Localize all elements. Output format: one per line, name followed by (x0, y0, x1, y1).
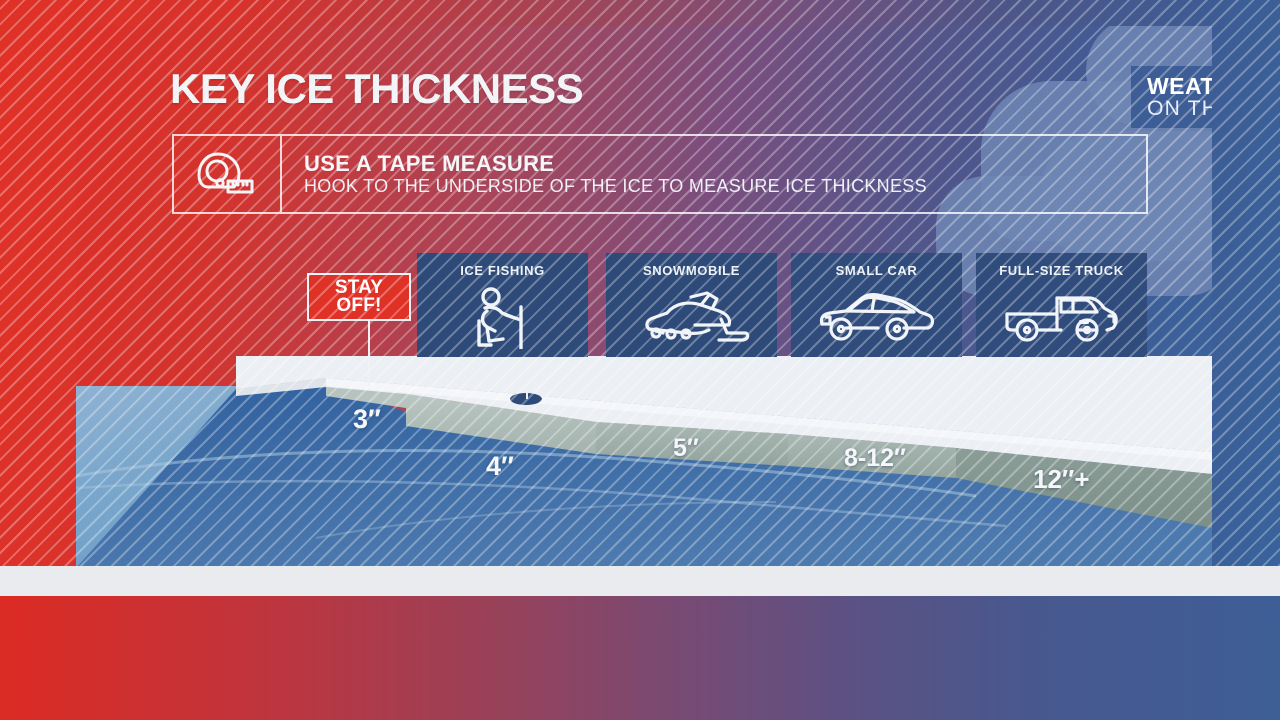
activity-card-ice-fishing[interactable]: ICE FISHING (417, 253, 588, 357)
logo-line-2: ON THE 1s (1147, 98, 1212, 120)
activity-cards: ICE FISHING (417, 253, 1144, 357)
page-title: KEY ICE THICKNESS (170, 68, 583, 110)
white-divider-strip (0, 566, 1280, 596)
thickness-label-12: 12″+ (1033, 464, 1090, 495)
thickness-label-4: 4″ (486, 451, 514, 482)
activity-card-snowmobile[interactable]: SNOWMOBILE (606, 253, 777, 357)
banner-subtitle: HOOK TO THE UNDERSIDE OF THE ICE TO MEAS… (304, 176, 1146, 198)
ice-fisherman-icon (417, 278, 588, 357)
thickness-label-5: 5″ (673, 434, 699, 463)
tape-measure-banner: USE A TAPE MEASURE HOOK TO THE UNDERSIDE… (172, 134, 1148, 214)
bottom-gradient-bar (0, 596, 1280, 720)
thickness-label-8-12: 8-12″ (844, 444, 906, 473)
content-panel: 3″ 4″ 5″ 8-12″ 12″+ KEY ICE THICKNESS WE… (76, 26, 1212, 566)
weather-on-the-1s-logo: WEATHER ON THE 1s (1131, 66, 1212, 128)
activity-card-small-car[interactable]: SMALL CAR (791, 253, 962, 357)
stay-off-sign: STAY OFF! (307, 273, 411, 321)
activity-card-label: ICE FISHING (460, 263, 545, 278)
car-icon (791, 278, 962, 357)
banner-title: USE A TAPE MEASURE (304, 151, 1146, 176)
activity-card-label: SNOWMOBILE (643, 263, 740, 278)
activity-card-full-size-truck[interactable]: FULL-SIZE TRUCK (976, 253, 1147, 357)
thickness-label-3: 3″ (353, 404, 381, 435)
snowmobile-icon (606, 278, 777, 357)
stay-off-label: STAY OFF! (335, 279, 383, 315)
sign-post (368, 319, 370, 389)
ice-cross-section (76, 356, 1212, 566)
banner-text-group: USE A TAPE MEASURE HOOK TO THE UNDERSIDE… (282, 136, 1146, 212)
infographic-stage: 3″ 4″ 5″ 8-12″ 12″+ KEY ICE THICKNESS WE… (0, 0, 1280, 720)
activity-card-label: FULL-SIZE TRUCK (999, 263, 1124, 278)
logo-line-1: WEATHER (1147, 74, 1212, 98)
activity-card-label: SMALL CAR (836, 263, 918, 278)
pickup-truck-icon (976, 278, 1147, 357)
tape-measure-icon (174, 136, 282, 212)
graphic-area: 3″ 4″ 5″ 8-12″ 12″+ KEY ICE THICKNESS WE… (0, 0, 1280, 566)
